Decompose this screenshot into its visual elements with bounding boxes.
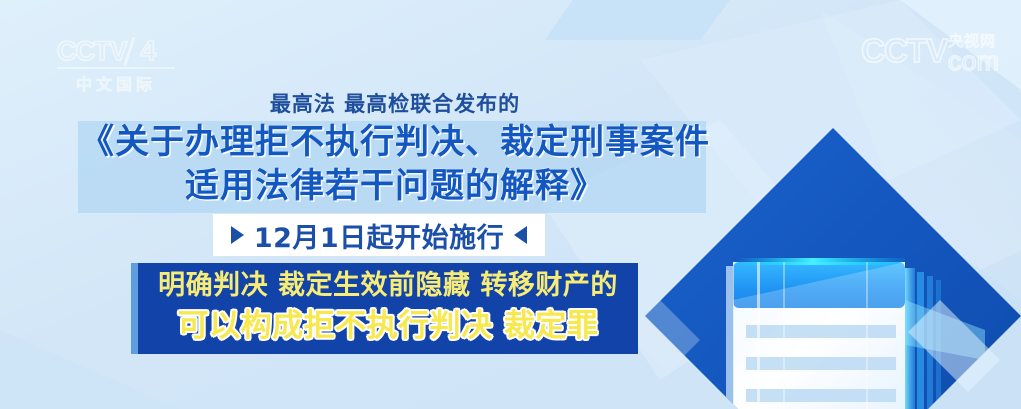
- watermark-right-group: 央视网 com: [948, 33, 999, 74]
- play-triangle-right-icon: [231, 226, 244, 244]
- effective-date-banner: 12月1日起开始施行: [213, 214, 545, 256]
- play-triangle-left-icon: [514, 226, 527, 244]
- highlight-line-1: 明确判决 裁定生效前隐藏 转移财产的: [138, 268, 638, 304]
- highlight-line-2: 可以构成拒不执行判决 裁定罪: [138, 305, 638, 347]
- watermark-brand: CCTV: [861, 33, 947, 69]
- cctv4-wordmark: CCTV: [57, 36, 127, 66]
- cctv4-logo-top: CCTV 4: [57, 36, 189, 66]
- document-title: 《关于办理拒不执行判决、裁定刑事案件 适用法律若干问题的解释》: [0, 120, 790, 208]
- watermark-domain: com: [948, 48, 999, 74]
- broadcast-news-graphic: CCTV 4 中文国际 CCTV 央视网 com 最高法 最高检联合发布的 《关…: [0, 0, 1021, 409]
- cctv4-number-wrap: 4: [129, 36, 171, 66]
- document-title-line-2: 适用法律若干问题的解释》: [0, 164, 790, 208]
- cctv4-divider: [57, 67, 175, 69]
- effective-date-text: 12月1日起开始施行: [254, 216, 504, 255]
- document-title-line-1: 《关于办理拒不执行判决、裁定刑事案件: [0, 120, 790, 164]
- cctv4-channel-number: 4: [141, 36, 157, 66]
- kicker-text: 最高法 最高检联合发布的: [0, 88, 790, 118]
- cctv-com-watermark: CCTV 央视网 com: [861, 33, 999, 74]
- cctv4-logo: CCTV 4 中文国际: [57, 36, 189, 90]
